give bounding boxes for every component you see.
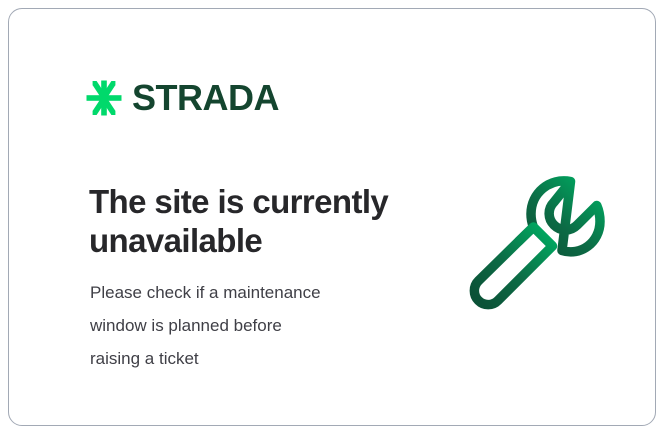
brand-wordmark: STRADA: [132, 80, 279, 116]
strada-starburst-icon: [85, 79, 123, 117]
page-title: The site is currently unavailable: [89, 183, 449, 261]
error-page: STRADA The site is currently unavailable…: [0, 0, 666, 436]
description-line: window is planned before: [90, 309, 420, 342]
description-line: raising a ticket: [90, 342, 420, 375]
page-description: Please check if a maintenance window is …: [90, 276, 420, 375]
description-line: Please check if a maintenance: [90, 276, 420, 309]
wrench-icon: [464, 161, 622, 319]
status-card: STRADA The site is currently unavailable…: [8, 8, 656, 426]
brand-lockup: STRADA: [85, 79, 279, 117]
